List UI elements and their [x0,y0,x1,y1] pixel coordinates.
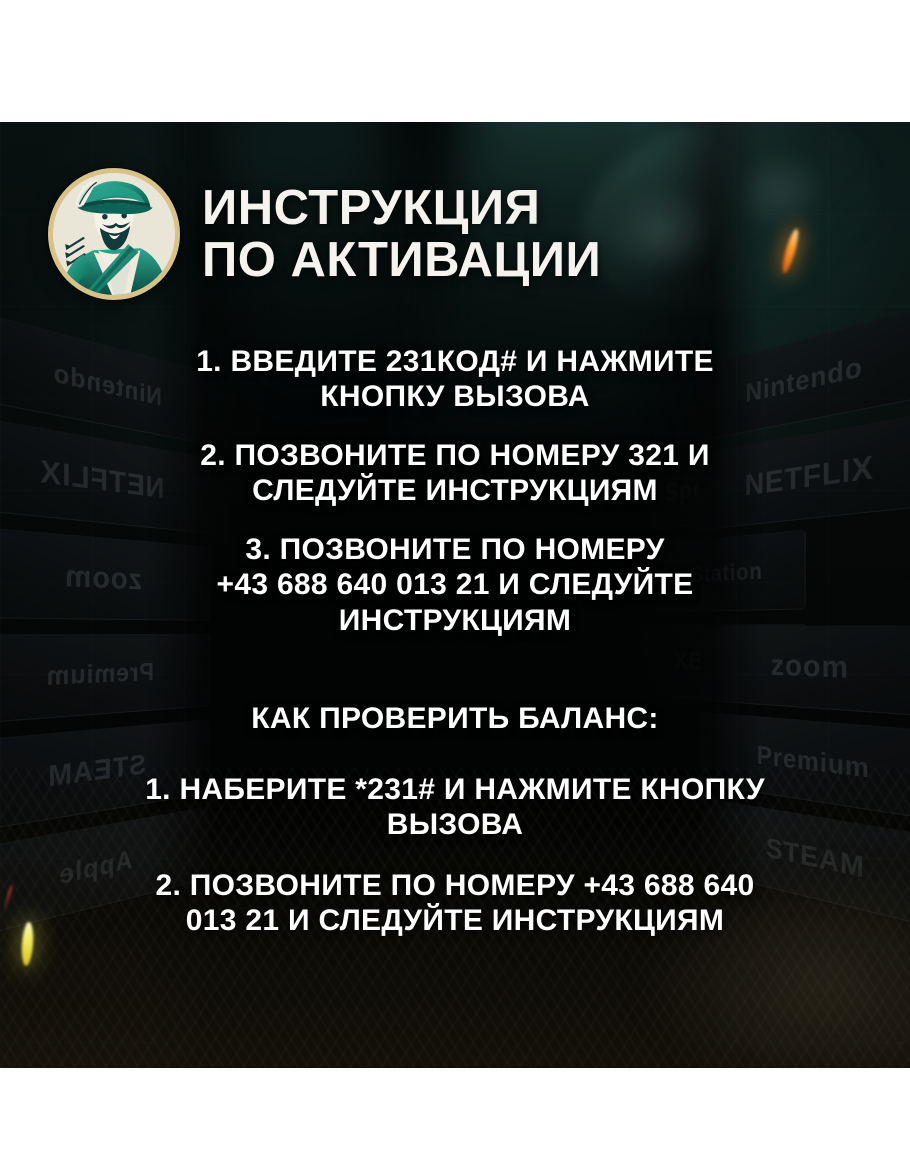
step-line: КНОПКУ ВЫЗОВА [0,379,910,414]
step-line: ИНСТРУКЦИЯМ [0,603,910,638]
activation-step-3: 3. ПОЗВОНИТЕ ПО НОМЕРУ +43 688 640 013 2… [0,532,910,637]
step-line: 2. ПОЗВОНИТЕ ПО НОМЕРУ +43 688 640 [0,868,910,903]
step-line: 1. ВВЕДИТЕ 231КОД# И НАЖМИТЕ [0,344,910,379]
step-line: 3. ПОЗВОНИТЕ ПО НОМЕРУ [0,532,910,567]
instruction-poster: Nintendo NETFLIX zoom Premium STEAM Appl… [0,122,910,1068]
balance-step-2: 2. ПОЗВОНИТЕ ПО НОМЕРУ +43 688 640 013 2… [0,868,910,938]
step-line: ВЫЗОВА [0,807,910,842]
page-title-line-2: ПО АКТИВАЦИИ [202,234,601,286]
step-line: +43 688 640 013 21 И СЛЕДУЙТЕ [0,567,910,602]
balance-step-1: 1. НАБЕРИТЕ *231# И НАЖМИТЕ КНОПКУ ВЫЗОВ… [0,772,910,842]
balance-steps-list: 1. НАБЕРИТЕ *231# И НАЖМИТЕ КНОПКУ ВЫЗОВ… [0,772,910,938]
robin-hood-logo-icon [48,168,180,300]
activation-steps-list: 1. ВВЕДИТЕ 231КОД# И НАЖМИТЕ КНОПКУ ВЫЗО… [0,344,910,638]
balance-section-heading: КАК ПРОВЕРИТЬ БАЛАНС: [0,702,910,736]
page-title: ИНСТРУКЦИЯ ПО АКТИВАЦИИ [202,182,601,287]
poster-content: ИНСТРУКЦИЯ ПО АКТИВАЦИИ 1. ВВЕДИТЕ 231КО… [0,122,910,1068]
poster-canvas: Nintendo NETFLIX zoom Premium STEAM Appl… [0,0,910,1155]
page-title-line-1: ИНСТРУКЦИЯ [202,182,601,234]
step-line: 1. НАБЕРИТЕ *231# И НАЖМИТЕ КНОПКУ [0,772,910,807]
step-line: 013 21 И СЛЕДУЙТЕ ИНСТРУКЦИЯМ [0,903,910,938]
step-line: СЛЕДУЙТЕ ИНСТРУКЦИЯМ [0,473,910,508]
activation-step-1: 1. ВВЕДИТЕ 231КОД# И НАЖМИТЕ КНОПКУ ВЫЗО… [0,344,910,414]
poster-header: ИНСТРУКЦИЯ ПО АКТИВАЦИИ [48,168,601,300]
activation-step-2: 2. ПОЗВОНИТЕ ПО НОМЕРУ 321 И СЛЕДУЙТЕ ИН… [0,438,910,508]
step-line: 2. ПОЗВОНИТЕ ПО НОМЕРУ 321 И [0,438,910,473]
